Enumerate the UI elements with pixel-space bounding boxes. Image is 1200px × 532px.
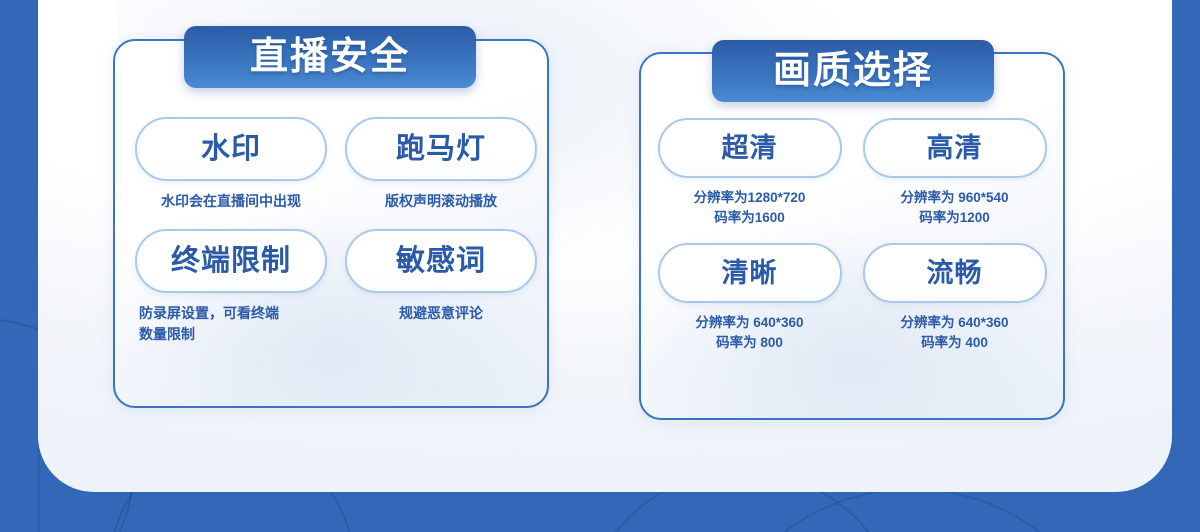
feature-item[interactable]: 高清 分辨率为 960*540 码率为1200 — [858, 118, 1051, 227]
feature-description: 规避恶意评论 — [345, 303, 537, 323]
feature-item[interactable]: 流畅 分辨率为 640*360 码率为 400 — [858, 243, 1051, 352]
feature-item[interactable]: 敏感词 规避恶意评论 — [345, 229, 537, 344]
feature-pill-label: 跑马灯 — [396, 135, 486, 164]
feature-item[interactable]: 清晰 分辨率为 640*360 码率为 800 — [653, 243, 846, 352]
feature-pill-label: 水印 — [201, 135, 261, 164]
quality-pill-ultra-hd[interactable]: 超清 — [658, 118, 842, 178]
feature-item[interactable]: 终端限制 防录屏设置，可看终端 数量限制 — [131, 229, 331, 344]
feature-pill-sensitive-words[interactable]: 敏感词 — [345, 229, 537, 293]
quality-pill-label: 清晰 — [722, 260, 778, 287]
quality-description: 分辨率为 960*540 码率为1200 — [862, 188, 1048, 227]
quality-pill-smooth[interactable]: 流畅 — [863, 243, 1047, 303]
feature-item[interactable]: 超清 分辨率为1280*720 码率为1600 — [653, 118, 846, 227]
quality-description: 分辨率为1280*720 码率为1600 — [657, 188, 843, 227]
feature-pill-label: 敏感词 — [396, 247, 486, 276]
feature-description: 防录屏设置，可看终端 数量限制 — [131, 303, 331, 344]
quality-pill-clear[interactable]: 清晰 — [658, 243, 842, 303]
card-title-banner-quality-selection: 画质选择 — [712, 40, 994, 102]
feature-item[interactable]: 跑马灯 版权声明滚动播放 — [345, 117, 537, 211]
feature-pill-terminal-limit[interactable]: 终端限制 — [135, 229, 327, 293]
card-title: 直播安全 — [250, 38, 410, 76]
feature-grid-live-security: 水印 水印会在直播间中出现 跑马灯 版权声明滚动播放 终端限制 防录屏设置，可看… — [131, 117, 531, 344]
feature-pill-marquee[interactable]: 跑马灯 — [345, 117, 537, 181]
card-live-security: 水印 水印会在直播间中出现 跑马灯 版权声明滚动播放 终端限制 防录屏设置，可看… — [113, 39, 549, 408]
quality-pill-label: 流畅 — [927, 260, 983, 287]
quality-description: 分辨率为 640*360 码率为 400 — [862, 313, 1048, 352]
card-title-banner-live-security: 直播安全 — [184, 26, 476, 88]
card-title: 画质选择 — [773, 52, 933, 90]
infographic-stage: 水印 水印会在直播间中出现 跑马灯 版权声明滚动播放 终端限制 防录屏设置，可看… — [0, 0, 1200, 532]
feature-pill-label: 终端限制 — [171, 247, 291, 276]
feature-description: 版权声明滚动播放 — [345, 191, 537, 211]
quality-pill-hd[interactable]: 高清 — [863, 118, 1047, 178]
quality-description: 分辨率为 640*360 码率为 800 — [657, 313, 843, 352]
card-quality-selection: 超清 分辨率为1280*720 码率为1600 高清 分辨率为 960*540 … — [639, 52, 1065, 420]
feature-item[interactable]: 水印 水印会在直播间中出现 — [131, 117, 331, 211]
quality-pill-label: 超清 — [722, 135, 778, 162]
feature-description: 水印会在直播间中出现 — [135, 191, 327, 211]
feature-grid-quality-selection: 超清 分辨率为1280*720 码率为1600 高清 分辨率为 960*540 … — [653, 118, 1051, 352]
feature-pill-watermark[interactable]: 水印 — [135, 117, 327, 181]
quality-pill-label: 高清 — [927, 135, 983, 162]
